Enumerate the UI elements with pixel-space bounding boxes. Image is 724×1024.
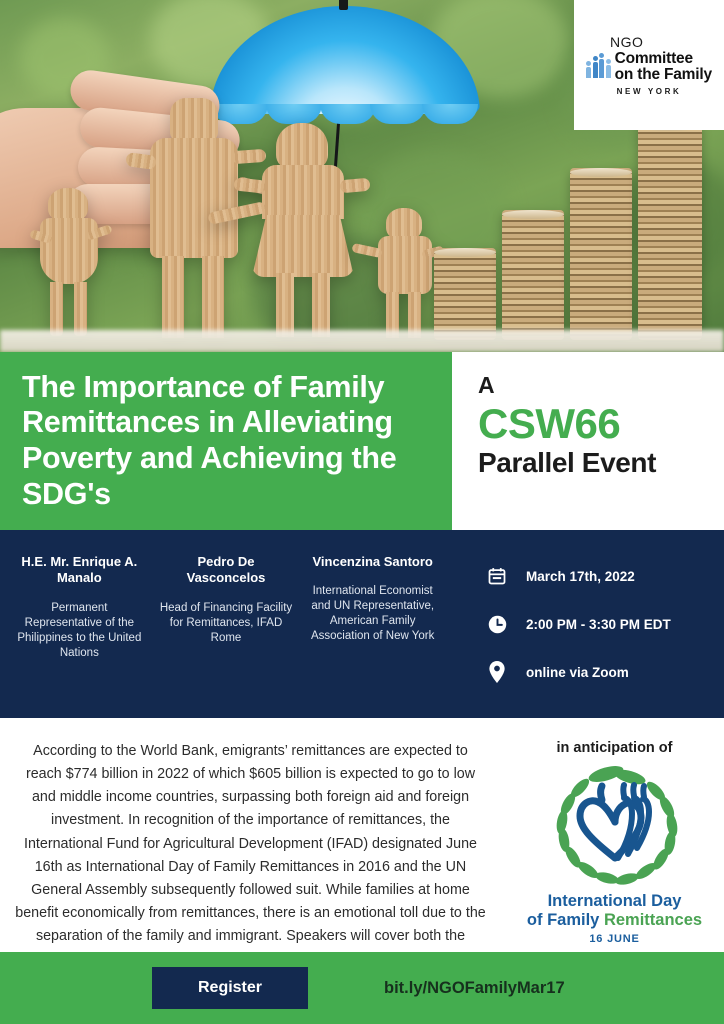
logo-ngo-text: NGO bbox=[610, 34, 643, 50]
clock-icon bbox=[486, 613, 508, 635]
event-time: 2:00 PM - 3:30 PM EDT bbox=[526, 617, 671, 632]
coin-stack bbox=[502, 210, 564, 340]
description-section: According to the World Bank, emigrants’ … bbox=[0, 718, 724, 952]
idfr-line-2-prefix: of Family bbox=[527, 911, 604, 929]
logo-line-1: Committee bbox=[615, 51, 712, 67]
map-pin-icon bbox=[486, 661, 508, 683]
umbrella-tip bbox=[339, 0, 348, 10]
logo-line-2: on the Family bbox=[615, 67, 712, 83]
event-time-row: 2:00 PM - 3:30 PM EDT bbox=[486, 613, 724, 635]
coin-stack bbox=[434, 248, 496, 340]
speaker-item: Pedro De Vasconcelos Head of Financing F… bbox=[153, 554, 300, 718]
register-button[interactable]: Register bbox=[152, 967, 308, 1009]
csw-event-type: Parallel Event bbox=[478, 447, 724, 479]
event-poster: NGO Committee on the Family NEW YORK The… bbox=[0, 0, 724, 1024]
speaker-role: Head of Financing Facility for Remittanc… bbox=[159, 601, 294, 646]
description-text: According to the World Bank, emigrants’ … bbox=[0, 718, 505, 952]
registration-link[interactable]: bit.ly/NGOFamilyMar17 bbox=[384, 979, 565, 998]
speaker-name: Pedro De Vasconcelos bbox=[159, 554, 294, 587]
ngo-committee-logo: NGO Committee on the Family NEW YORK bbox=[574, 0, 724, 130]
speaker-name: Vincenzina Santoro bbox=[305, 554, 440, 570]
event-details: March 17th, 2022 2:00 PM - 3:30 PM EDT bbox=[470, 530, 724, 718]
speaker-role: Permanent Representative of the Philippi… bbox=[12, 601, 147, 661]
anticipation-label: in anticipation of bbox=[505, 740, 724, 756]
title-band: The Importance of Family Remittances in … bbox=[0, 352, 452, 530]
speaker-role: International Economist and UN Represent… bbox=[305, 584, 440, 644]
event-location: online via Zoom bbox=[526, 665, 629, 680]
table-surface bbox=[0, 330, 724, 352]
speaker-item: Vincenzina Santoro International Economi… bbox=[299, 554, 446, 718]
wooden-figure-mother bbox=[250, 123, 358, 338]
csw-code: CSW66 bbox=[478, 401, 724, 446]
idfr-line-2-accent: Remittances bbox=[604, 911, 702, 929]
calendar-icon bbox=[486, 565, 508, 587]
event-date: March 17th, 2022 bbox=[526, 569, 635, 584]
coin-stack bbox=[570, 168, 632, 340]
speakers-band: H.E. Mr. Enrique A. Manalo Permanent Rep… bbox=[0, 530, 724, 718]
coin-stack bbox=[638, 122, 702, 340]
idfr-wordmark: International Day of Family Remittances … bbox=[505, 892, 724, 945]
speakers-list: H.E. Mr. Enrique A. Manalo Permanent Rep… bbox=[0, 530, 452, 718]
csw-article: A bbox=[478, 372, 724, 399]
footer-band: Register bit.ly/NGOFamilyMar17 bbox=[0, 952, 724, 1024]
idfr-date: 16 JUNE bbox=[505, 933, 724, 946]
heart-family-wreath-icon bbox=[540, 762, 690, 890]
event-location-row: online via Zoom bbox=[486, 661, 724, 683]
event-date-row: March 17th, 2022 bbox=[486, 565, 724, 587]
page-title: The Importance of Family Remittances in … bbox=[0, 370, 452, 513]
speaker-name: H.E. Mr. Enrique A. Manalo bbox=[12, 554, 147, 587]
logo-city: NEW YORK bbox=[617, 87, 682, 96]
csw-panel: A CSW66 Parallel Event bbox=[452, 352, 724, 530]
idfr-logo-block: in anticipation of bbox=[505, 718, 724, 952]
people-group-icon bbox=[586, 56, 611, 78]
idfr-line-2: of Family Remittances bbox=[505, 911, 724, 930]
wooden-figure-child-left bbox=[34, 188, 106, 338]
idfr-line-1: International Day bbox=[505, 892, 724, 911]
speaker-item: H.E. Mr. Enrique A. Manalo Permanent Rep… bbox=[6, 554, 153, 718]
